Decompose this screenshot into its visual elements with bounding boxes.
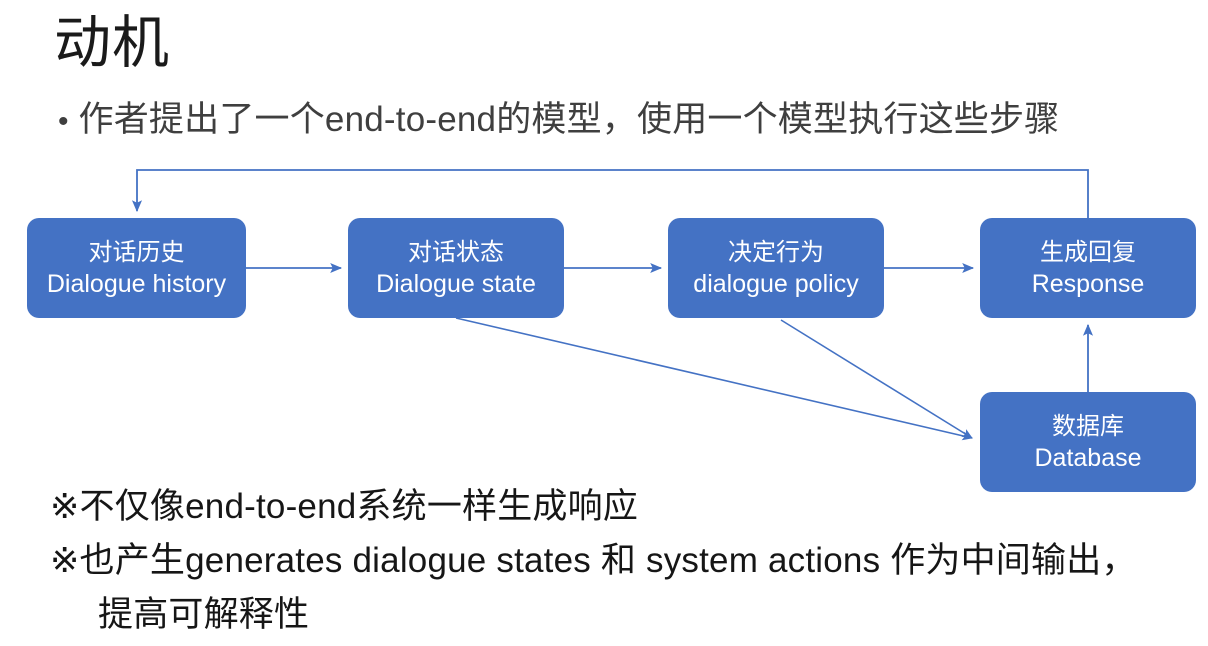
bullet-item: • 作者提出了一个end-to-end的模型，使用一个模型执行这些步骤 [58,98,1059,142]
edge-policy-to-database [781,320,972,438]
bullet-marker-icon: • [58,107,69,137]
edge-response-to-history-feedback [137,170,1088,218]
node-label-en: Database [1034,442,1141,474]
node-database[interactable]: 数据库 Database [980,392,1196,492]
node-label-cn: 数据库 [1052,411,1124,442]
note-line-1: ※不仅像end-to-end系统一样生成响应 [50,480,1200,534]
node-label-en: Dialogue state [376,268,536,300]
node-label-en: Response [1032,268,1145,300]
node-label-en: dialogue policy [693,268,858,300]
note-line-2: ※也产生generates dialogue states 和 system a… [50,534,1200,588]
node-label-cn: 生成回复 [1040,237,1136,268]
page-title: 动机 [54,8,170,78]
node-label-cn: 决定行为 [728,237,824,268]
pipeline-diagram: 对话历史 Dialogue history 对话状态 Dialogue stat… [0,160,1208,500]
slide-canvas: 动机 • 作者提出了一个end-to-end的模型，使用一个模型执行这些步骤 [0,0,1208,646]
node-label-en: Dialogue history [47,268,226,300]
node-dialogue-state[interactable]: 对话状态 Dialogue state [348,218,564,318]
node-dialogue-policy[interactable]: 决定行为 dialogue policy [668,218,884,318]
bullet-text: 作者提出了一个end-to-end的模型，使用一个模型执行这些步骤 [79,98,1060,142]
notes-block: ※不仅像end-to-end系统一样生成响应 ※也产生generates dia… [50,480,1200,642]
edge-state-to-database [456,318,972,438]
note-line-3: 提高可解释性 [50,588,1200,642]
node-dialogue-history[interactable]: 对话历史 Dialogue history [27,218,246,318]
node-label-cn: 对话历史 [89,237,185,268]
node-response[interactable]: 生成回复 Response [980,218,1196,318]
node-label-cn: 对话状态 [408,237,504,268]
